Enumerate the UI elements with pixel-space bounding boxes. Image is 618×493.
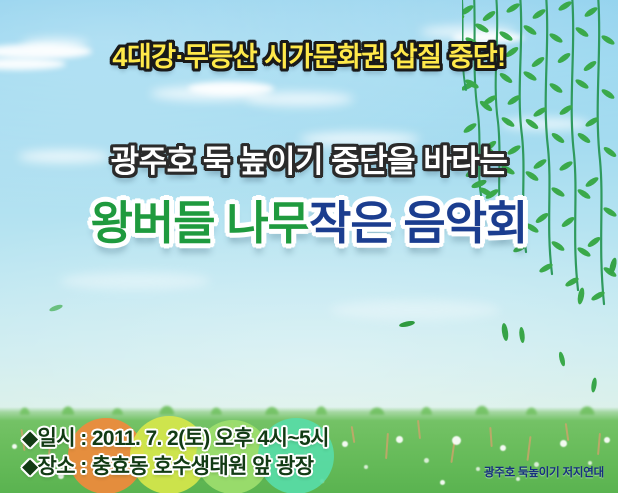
seed-dot: [364, 465, 368, 469]
falling-leaf: [606, 256, 618, 281]
falling-leaf: [516, 326, 528, 349]
seed-dot: [342, 441, 348, 447]
grass-blade: [526, 436, 531, 461]
main-title-segment-green: 왕버들 나무: [91, 200, 309, 246]
grass-blade: [385, 433, 389, 459]
grass-blade: [417, 420, 421, 439]
info-line-location: ◆장소 : 충효동 호수생태원 앞 광장: [22, 456, 313, 477]
seed-dot: [560, 440, 567, 447]
seed-dot: [452, 436, 461, 445]
falling-leaf: [48, 300, 64, 318]
event-poster: 4대강·무등산 시가문화권 삽질 중단! 광주호 둑 높이기 중단을 바라는 왕…: [0, 0, 618, 493]
headline-slogan: 4대강·무등산 시가문화권 삽질 중단!: [0, 44, 618, 71]
seed-dot: [440, 480, 445, 485]
falling-leaf: [398, 316, 416, 334]
main-title-segment-blue: 작은 음악회: [309, 200, 527, 246]
cloud-shape: [60, 272, 210, 290]
grass-blade: [489, 427, 492, 447]
main-title: 왕버들 나무 작은 음악회: [0, 200, 618, 246]
organizer-credit: 광주호 둑높이기 저지연대: [484, 464, 604, 480]
cloud-shape: [246, 92, 354, 106]
info-line-date: ◆일시 : 2011. 7. 2(토) 오후 4시~5시: [22, 428, 329, 449]
seed-dot: [396, 436, 403, 443]
seed-dot: [12, 444, 17, 449]
falling-leaf: [574, 286, 588, 311]
seed-dot: [476, 467, 480, 471]
falling-leaf: [556, 350, 568, 373]
subtitle-line: 광주호 둑 높이기 중단을 바라는: [0, 146, 618, 177]
grass-blade: [351, 426, 356, 443]
seed-dot: [424, 458, 429, 463]
seed-dot: [500, 445, 506, 451]
seed-dot: [604, 437, 610, 443]
grass-blade: [565, 423, 569, 441]
grass-blade: [597, 433, 601, 455]
falling-leaf: [498, 322, 512, 347]
